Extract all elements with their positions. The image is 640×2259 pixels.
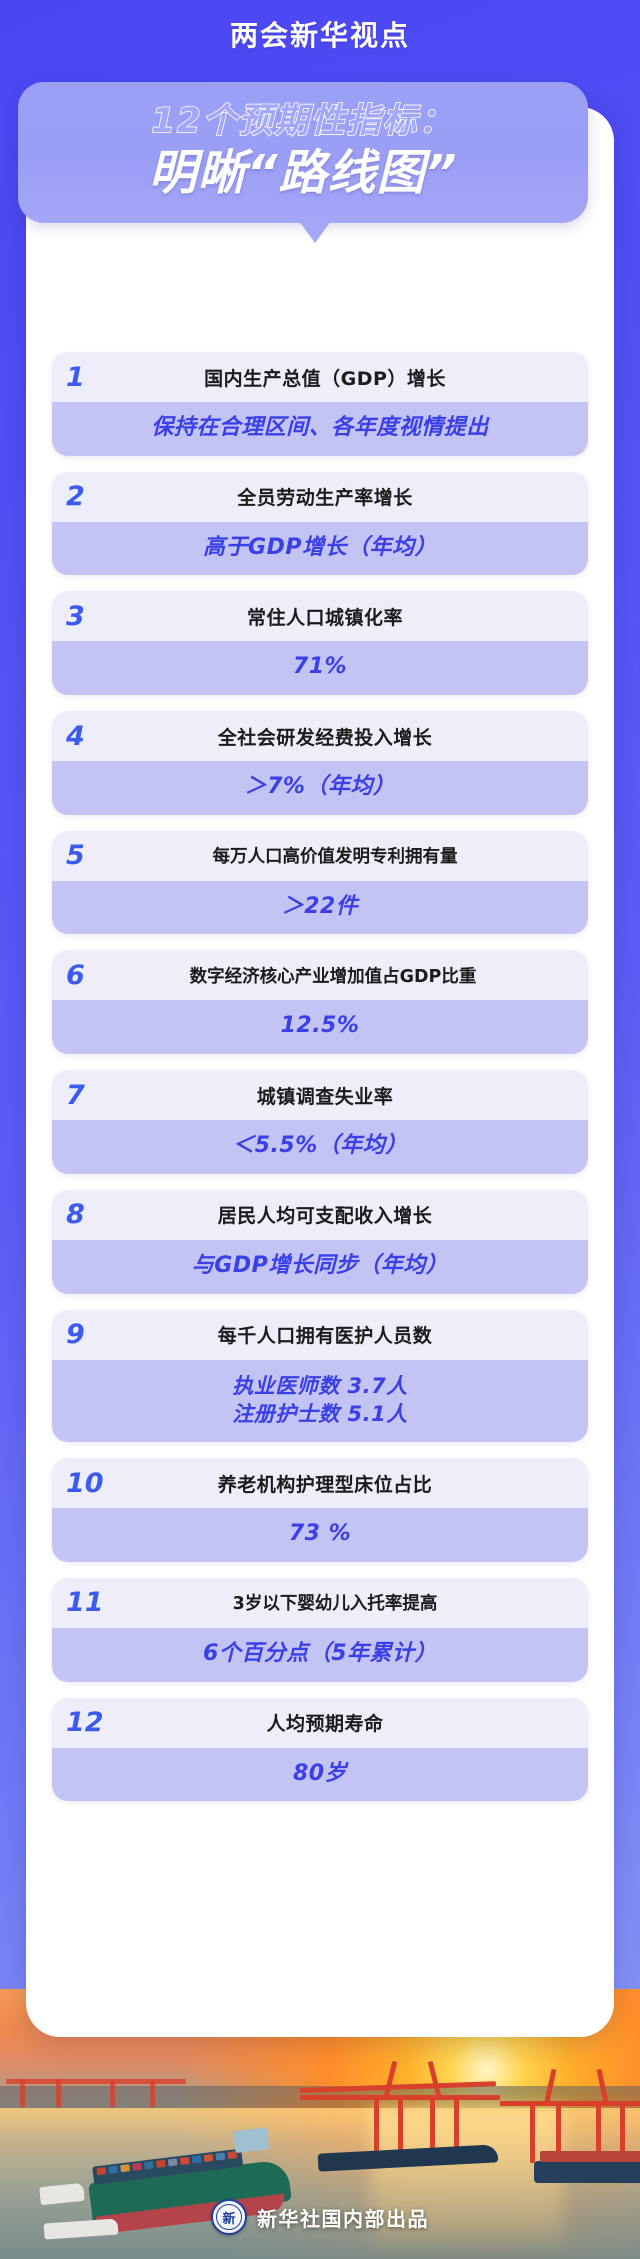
list-item[interactable]: 11 3岁以下婴幼儿入托率提高 6个百分点（5年累计） (52, 1578, 588, 1682)
crane-boom (300, 2095, 500, 2100)
docked-ship (534, 2161, 640, 2183)
row-number: 11 (66, 1589, 122, 1616)
row-header: 11 3岁以下婴幼儿入托率提高 (52, 1578, 588, 1628)
row-value: 12.5% (52, 1000, 588, 1054)
row-value: 高于GDP增长（年均） (52, 522, 588, 576)
list-item[interactable]: 5 每万人口高价值发明专利拥有量 ＞22件 (52, 831, 588, 935)
crane-leg (150, 2081, 155, 2107)
row-value: 与GDP增长同步（年均） (52, 1240, 588, 1294)
row-value: 73 % (52, 1508, 588, 1562)
row-number: 10 (66, 1470, 122, 1497)
list-item[interactable]: 9 每千人口拥有医护人员数 执业医师数 3.7人 注册护士数 5.1人 (52, 1310, 588, 1443)
row-value-line-2: 注册护士数 5.1人 (62, 1400, 578, 1428)
row-number: 3 (66, 603, 122, 630)
row-label: 人均预期寿命 (122, 1709, 574, 1736)
crane-boom (500, 2101, 640, 2106)
row-number: 2 (66, 483, 122, 510)
row-value: 执业医师数 3.7人 注册护士数 5.1人 (52, 1360, 588, 1443)
row-header: 6 数字经济核心产业增加值占GDP比重 (52, 950, 588, 1000)
page-title: 两会新华视点 (0, 14, 640, 54)
row-label: 城镇调查失业率 (122, 1082, 574, 1109)
row-value: 保持在合理区间、各年度视情提出 (52, 402, 588, 456)
row-label: 全社会研发经费投入增长 (122, 723, 574, 750)
row-value: 71% (52, 641, 588, 695)
row-number: 6 (66, 962, 100, 989)
row-number: 7 (66, 1082, 122, 1109)
row-label: 全员劳动生产率增长 (122, 483, 574, 510)
row-header: 3 常住人口城镇化率 (52, 591, 588, 641)
xinhua-logo-icon: 新 (211, 2199, 247, 2235)
row-value: ＜5.5%（年均） (52, 1120, 588, 1174)
row-header: 8 居民人均可支配收入增长 (52, 1190, 588, 1240)
list-item[interactable]: 10 养老机构护理型床位占比 73 % (52, 1458, 588, 1562)
row-value: ＞7%（年均） (52, 761, 588, 815)
logo-glyph: 新 (216, 2204, 242, 2230)
row-number: 9 (66, 1321, 122, 1348)
infographic-page: 两会新华视点 (0, 0, 640, 2259)
row-header: 12 人均预期寿命 (52, 1698, 588, 1748)
row-header: 9 每千人口拥有医护人员数 (52, 1310, 588, 1360)
title-line-1: 12个预期性指标： (28, 100, 578, 143)
row-label: 国内生产总值（GDP）增长 (122, 364, 574, 391)
list-item[interactable]: 2 全员劳动生产率增长 高于GDP增长（年均） (52, 472, 588, 576)
title-line-2: 明晰“路线图” (28, 145, 578, 202)
crane-leg (374, 2095, 379, 2159)
list-item[interactable]: 1 国内生产总值（GDP）增长 保持在合理区间、各年度视情提出 (52, 352, 588, 456)
list-item[interactable]: 4 全社会研发经费投入增长 ＞7%（年均） (52, 711, 588, 815)
row-header: 1 国内生产总值（GDP）增长 (52, 352, 588, 402)
list-item[interactable]: 6 数字经济核心产业增加值占GDP比重 12.5% (52, 950, 588, 1054)
cargo-stack (540, 2151, 640, 2162)
row-header: 4 全社会研发经费投入增长 (52, 711, 588, 761)
row-label: 养老机构护理型床位占比 (122, 1470, 574, 1497)
row-label: 数字经济核心产业增加值占GDP比重 (100, 963, 574, 988)
row-number: 8 (66, 1201, 122, 1228)
list-item[interactable]: 12 人均预期寿命 80岁 (52, 1698, 588, 1802)
row-label: 每万人口高价值发明专利拥有量 (122, 843, 574, 868)
row-value: 80岁 (52, 1748, 588, 1802)
row-header: 7 城镇调查失业率 (52, 1070, 588, 1120)
list-item[interactable]: 8 居民人均可支配收入增长 与GDP增长同步（年均） (52, 1190, 588, 1294)
crane-leg (530, 2101, 535, 2163)
row-label: 常住人口城镇化率 (122, 603, 574, 630)
bridge-superstructure (233, 2127, 269, 2153)
row-value-line-1: 执业医师数 3.7人 (62, 1372, 578, 1400)
content-panel: 12个预期性指标： 明晰“路线图” 1 国内生产总值（GDP）增长 保持在合理区… (26, 107, 614, 2037)
row-header: 5 每万人口高价值发明专利拥有量 (52, 831, 588, 881)
crane-boom (6, 2079, 186, 2084)
row-label: 每千人口拥有医护人员数 (122, 1321, 574, 1348)
row-number: 5 (66, 842, 122, 869)
list-item[interactable]: 7 城镇调查失业率 ＜5.5%（年均） (52, 1070, 588, 1174)
row-label: 居民人均可支配收入增长 (122, 1201, 574, 1228)
list-item[interactable]: 3 常住人口城镇化率 71% (52, 591, 588, 695)
title-speech-bubble: 12个预期性指标： 明晰“路线图” (18, 82, 588, 223)
row-label: 3岁以下婴幼儿入托率提高 (122, 1590, 574, 1615)
row-value: ＞22件 (52, 881, 588, 935)
credit-text: 新华社国内部出品 (257, 2203, 429, 2232)
row-header: 2 全员劳动生产率增长 (52, 472, 588, 522)
row-value: 6个百分点（5年累计） (52, 1628, 588, 1682)
crane-leg (110, 2081, 115, 2107)
row-number: 12 (66, 1709, 122, 1736)
row-header: 10 养老机构护理型床位占比 (52, 1458, 588, 1508)
indicator-list: 1 国内生产总值（GDP）增长 保持在合理区间、各年度视情提出 2 全员劳动生产… (52, 352, 588, 1817)
row-number: 1 (66, 364, 122, 391)
credit-block: 新 新华社国内部出品 (0, 2199, 640, 2235)
row-number: 4 (66, 723, 122, 750)
